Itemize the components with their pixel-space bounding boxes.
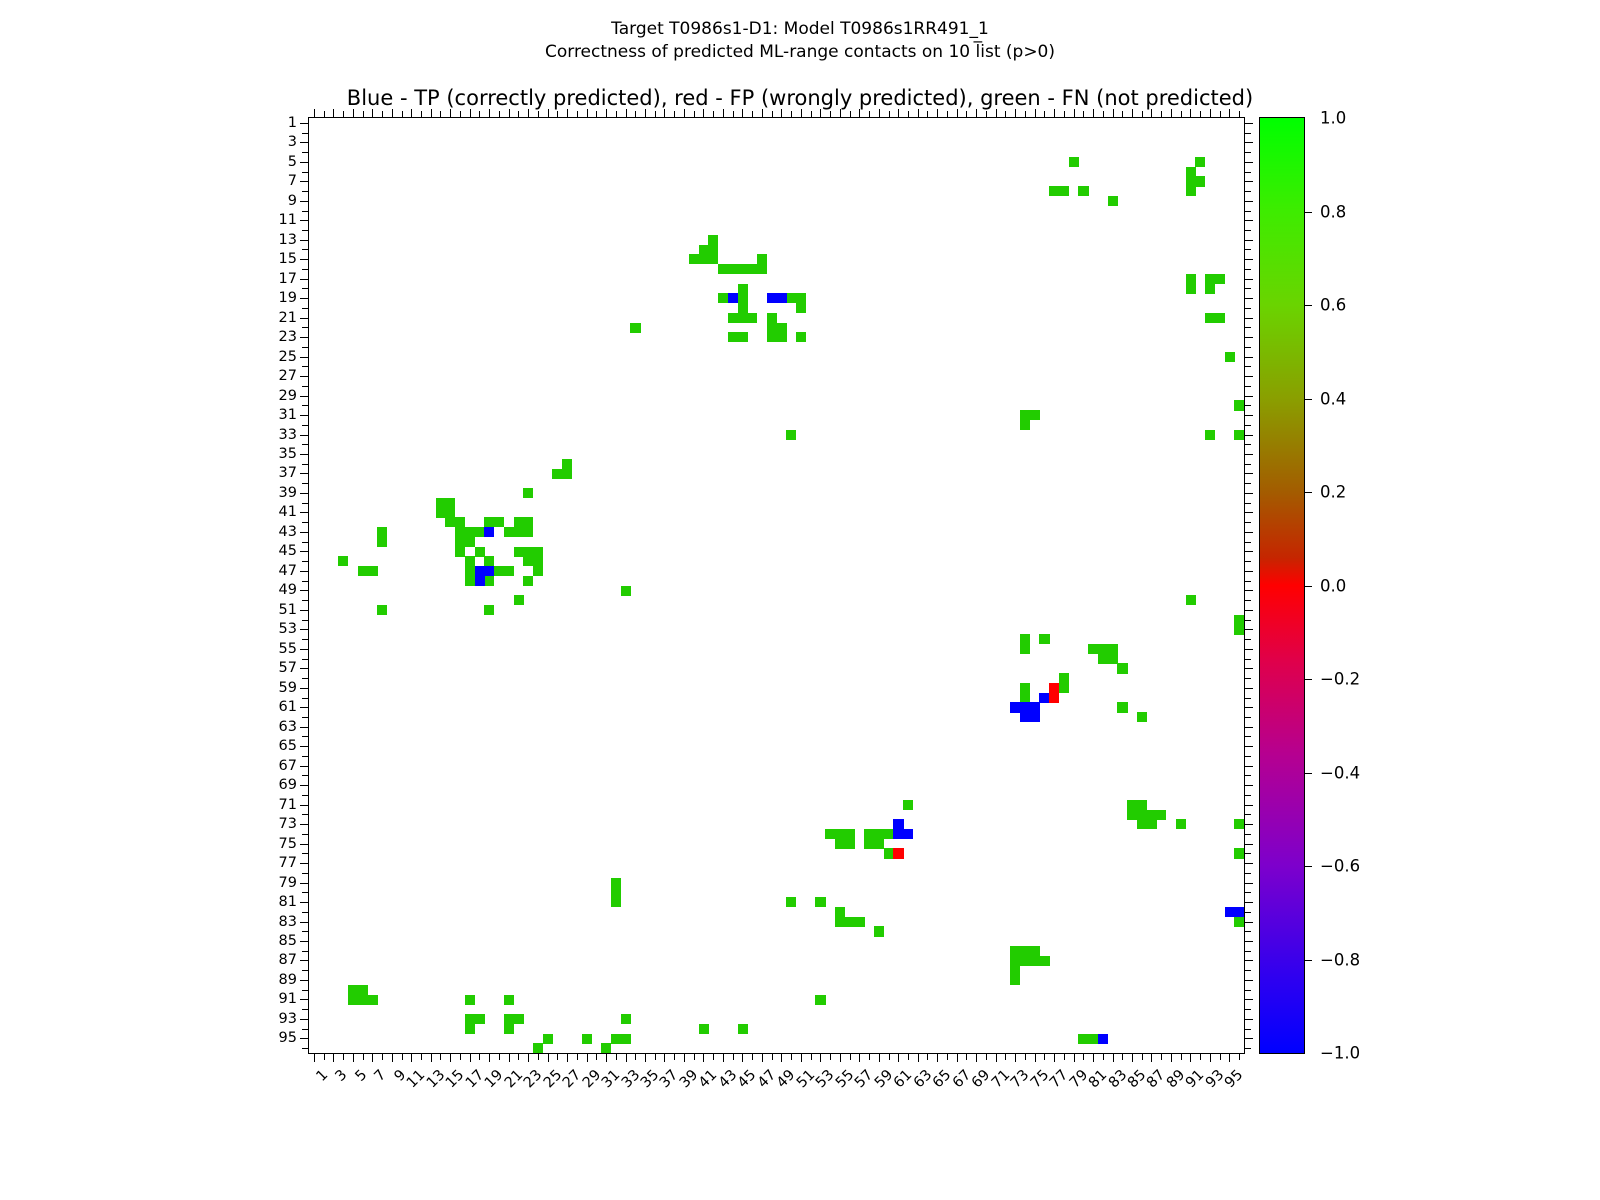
contact-cell-fn (1010, 946, 1020, 956)
contact-cell-fn (1059, 186, 1069, 196)
x-axis-tick-top (528, 109, 529, 118)
x-axis-tick-top (402, 111, 403, 118)
y-axis-tick (300, 551, 309, 552)
x-axis-tick-top (1044, 111, 1045, 118)
contact-cell-tp (1030, 712, 1040, 722)
contact-cell-fn (1205, 313, 1215, 323)
y-axis-tick (300, 785, 309, 786)
contact-cell-tp (1039, 693, 1049, 703)
contact-cell-fn (874, 829, 884, 839)
x-axis-tick-top (723, 109, 724, 118)
x-axis-tick-top (314, 109, 315, 118)
contact-cell-fp (893, 848, 903, 858)
contact-cell-fn (436, 508, 446, 518)
contact-cell-fn (1176, 819, 1186, 829)
contact-cell-fn (1020, 693, 1030, 703)
contact-cell-fn (738, 313, 748, 323)
x-axis-tick-top (557, 111, 558, 118)
contact-cell-fn (796, 303, 806, 313)
x-axis-tick-top (421, 111, 422, 118)
colorbar-tick-label: 0.6 (1320, 296, 1346, 315)
contact-cell-fn (796, 332, 806, 342)
x-axis-tick (1035, 1053, 1036, 1062)
contact-cell-fn (1234, 430, 1244, 440)
y-axis-tick-right (1244, 629, 1253, 630)
y-axis-tick-right (1244, 249, 1251, 250)
y-axis-tick-right (1244, 668, 1253, 669)
contact-cell-fn (611, 887, 621, 897)
x-axis-tick (626, 1053, 627, 1062)
y-axis-tick-right (1244, 279, 1253, 280)
y-axis-tick (302, 522, 309, 523)
y-axis-tick-label: 25 (279, 349, 297, 365)
y-axis-tick (300, 357, 309, 358)
y-axis-tick-right (1244, 473, 1253, 474)
contact-cell-fn (514, 527, 524, 537)
y-axis-tick-label: 87 (279, 952, 297, 968)
x-axis-tick (1229, 1053, 1230, 1062)
x-axis-tick-top (733, 111, 734, 118)
x-axis-tick (850, 1053, 851, 1060)
x-axis-tick (372, 1053, 373, 1062)
contact-cell-fn (455, 517, 465, 527)
y-axis-tick-right (1244, 133, 1251, 134)
x-axis-tick (489, 1053, 490, 1062)
x-axis-tick (733, 1053, 734, 1060)
contact-cell-tp (893, 819, 903, 829)
y-axis-tick-right (1244, 766, 1253, 767)
y-axis-tick (300, 922, 309, 923)
x-axis-tick-top (1171, 109, 1172, 118)
x-axis-tick-top (606, 109, 607, 118)
contact-cell-fn (1088, 644, 1098, 654)
contact-cell-fn (1108, 196, 1118, 206)
contact-cell-fn (1108, 644, 1118, 654)
contact-cell-fn (1030, 946, 1040, 956)
contact-cell-fn (358, 566, 368, 576)
colorbar-tick-label: −0.6 (1320, 857, 1360, 876)
y-axis-tick (300, 999, 309, 1000)
x-axis-tick-top (674, 111, 675, 118)
contact-cell-fn (475, 1014, 485, 1024)
contact-cell-fn (514, 547, 524, 557)
x-axis-tick-top (830, 111, 831, 118)
y-axis-tick-label: 31 (279, 407, 297, 423)
contact-cell-fn (1205, 430, 1215, 440)
y-axis-tick-label: 39 (279, 485, 297, 501)
x-axis-tick-top (1025, 111, 1026, 118)
y-axis-tick (302, 620, 309, 621)
y-axis-tick-label: 75 (279, 836, 297, 852)
colorbar-tick (1304, 960, 1312, 961)
y-axis-tick (300, 883, 309, 884)
contact-cell-fn (475, 527, 485, 537)
x-axis-tick (1044, 1053, 1045, 1060)
x-axis-tick-top (1190, 109, 1191, 118)
contact-cell-fn (582, 1034, 592, 1044)
y-axis-tick (302, 249, 309, 250)
colorbar-tick-label: 0.8 (1320, 202, 1346, 221)
y-axis-tick-right (1244, 892, 1251, 893)
y-axis-tick (300, 610, 309, 611)
contact-cell-fn (523, 517, 533, 527)
x-axis-tick (538, 1053, 539, 1060)
contact-cell-fn (1234, 615, 1244, 625)
x-axis-tick (548, 1053, 549, 1062)
contact-cell-fn (1059, 683, 1069, 693)
x-axis-tick-top (966, 111, 967, 118)
contact-cell-fn (815, 995, 825, 1005)
contact-cell-fn (786, 897, 796, 907)
x-axis-tick (684, 1053, 685, 1062)
page-title: Target T0986s1-D1: Model T0986s1RR491_1 (0, 18, 1600, 41)
contact-cell-fn (1137, 819, 1147, 829)
y-axis-tick (302, 1048, 309, 1049)
contact-cell-fn (562, 469, 572, 479)
contact-cell-fn (747, 264, 757, 274)
colorbar-tick (1304, 399, 1312, 400)
x-axis-tick-top (937, 109, 938, 118)
x-axis-tick (577, 1053, 578, 1060)
x-axis-tick-top (577, 111, 578, 118)
y-axis-tick (300, 688, 309, 689)
x-axis-tick-top (1151, 109, 1152, 118)
y-axis-tick (302, 659, 309, 660)
contact-cell-fn (533, 556, 543, 566)
x-axis-tick (431, 1053, 432, 1062)
y-axis-tick-right (1244, 357, 1253, 358)
contact-cell-fn (377, 605, 387, 615)
contact-cell-fn (1010, 965, 1020, 975)
y-axis-tick-right (1244, 347, 1251, 348)
x-axis-tick-top (411, 109, 412, 118)
x-axis-tick-top (440, 111, 441, 118)
y-axis-tick-label: 69 (279, 777, 297, 793)
contact-cell-fn (523, 576, 533, 586)
y-axis-tick-label: 7 (288, 173, 297, 189)
contact-cell-fn (1215, 313, 1225, 323)
x-axis-tick-top (1142, 111, 1143, 118)
y-axis-tick-right (1244, 1038, 1253, 1039)
y-axis-tick (302, 425, 309, 426)
contact-cell-fn (1020, 420, 1030, 430)
x-axis-tick-top (762, 109, 763, 118)
y-axis-tick-right (1244, 571, 1253, 572)
y-axis-tick-right (1244, 980, 1253, 981)
contact-cell-tp (1098, 1034, 1108, 1044)
contact-cell-fn (874, 926, 884, 936)
y-axis-tick (302, 386, 309, 387)
y-axis-tick (300, 707, 309, 708)
contact-cell-fn (1010, 975, 1020, 985)
y-axis-tick-right (1244, 620, 1251, 621)
y-axis-tick (300, 649, 309, 650)
x-axis-tick (830, 1053, 831, 1060)
y-axis-tick (302, 152, 309, 153)
contact-cell-fn (767, 323, 777, 333)
y-axis-tick-right (1244, 522, 1251, 523)
x-axis-tick (1083, 1053, 1084, 1060)
contact-cell-tp (1020, 712, 1030, 722)
y-axis-tick-right (1244, 551, 1253, 552)
contact-cell-fn (367, 995, 377, 1005)
y-axis-tick (300, 318, 309, 319)
contact-cell-fn (484, 605, 494, 615)
colorbar-tick-label: −0.2 (1320, 670, 1360, 689)
contact-cell-tp (728, 293, 738, 303)
y-axis-tick-label: 21 (279, 310, 297, 326)
x-axis-tick-label: 7 (372, 1067, 390, 1085)
y-axis-tick (302, 503, 309, 504)
contact-cell-tp (1030, 702, 1040, 712)
x-axis-tick (1054, 1053, 1055, 1062)
contact-cell-fn (1020, 956, 1030, 966)
x-axis-tick (518, 1053, 519, 1060)
y-axis-tick (302, 990, 309, 991)
y-axis-tick-right (1244, 152, 1251, 153)
x-axis-tick (742, 1053, 743, 1062)
y-axis-tick-label: 83 (279, 914, 297, 930)
y-axis-tick (300, 435, 309, 436)
y-axis-tick-label: 23 (279, 329, 297, 345)
x-axis-tick (499, 1053, 500, 1060)
y-axis-tick-right (1244, 396, 1253, 397)
y-axis-tick-right (1244, 707, 1253, 708)
y-axis-tick (302, 581, 309, 582)
contact-cell-fn (504, 1014, 514, 1024)
y-axis-tick-label: 55 (279, 641, 297, 657)
y-axis-tick-right (1244, 493, 1253, 494)
y-axis-tick-label: 49 (279, 582, 297, 598)
contact-cell-fn (1147, 819, 1157, 829)
contact-cell-fn (1108, 654, 1118, 664)
y-axis-tick (300, 337, 309, 338)
legend-title: Blue - TP (correctly predicted), red - F… (0, 86, 1600, 110)
y-axis-tick-label: 51 (279, 602, 297, 618)
colorbar-tick-label: −0.4 (1320, 763, 1360, 782)
y-axis-tick (302, 561, 309, 562)
x-axis-tick (1005, 1053, 1006, 1060)
x-axis-tick-top (1064, 111, 1065, 118)
y-axis-tick-label: 59 (279, 680, 297, 696)
y-axis-tick (300, 960, 309, 961)
y-axis-tick-right (1244, 990, 1251, 991)
colorbar-tick-label: 0.2 (1320, 483, 1346, 502)
contact-cell-fn (445, 508, 455, 518)
x-axis-tick-top (1210, 109, 1211, 118)
y-axis-tick (302, 464, 309, 465)
x-axis-tick (324, 1053, 325, 1060)
y-axis-tick (302, 834, 309, 835)
contact-cell-fn (1039, 956, 1049, 966)
x-axis-tick (674, 1053, 675, 1060)
contact-cell-fn (777, 323, 787, 333)
y-axis-tick (300, 493, 309, 494)
y-axis-tick-right (1244, 386, 1251, 387)
colorbar-tick (1304, 866, 1312, 867)
contact-cell-fn (523, 556, 533, 566)
contact-cell-fn (621, 586, 631, 596)
y-axis-tick (300, 1019, 309, 1020)
contact-cell-fn (708, 235, 718, 245)
contact-cell-fn (1234, 400, 1244, 410)
x-axis-tick (1122, 1053, 1123, 1060)
contact-cell-fn (835, 907, 845, 917)
x-axis-tick-top (333, 109, 334, 118)
contact-cell-fn (367, 566, 377, 576)
colorbar-tick-label: −1.0 (1320, 1044, 1360, 1063)
x-axis-tick (791, 1053, 792, 1060)
contact-cell-fn (377, 527, 387, 537)
contact-cell-fn (445, 498, 455, 508)
contact-cell-fn (1020, 644, 1030, 654)
contact-cell-fn (1049, 186, 1059, 196)
colorbar-tick (1304, 305, 1312, 306)
contact-cell-fn (358, 985, 368, 995)
x-axis-tick-top (957, 109, 958, 118)
contact-cell-fn (767, 332, 777, 342)
y-axis-tick-right (1244, 688, 1253, 689)
x-axis-tick (1074, 1053, 1075, 1062)
contact-cell-fn (338, 556, 348, 566)
y-axis-tick-right (1244, 366, 1251, 367)
contact-cell-tp (1020, 702, 1030, 712)
x-axis-tick-top (372, 109, 373, 118)
y-axis-tick (302, 639, 309, 640)
x-axis-tick-top (889, 111, 890, 118)
contact-cell-fn (786, 293, 796, 303)
x-axis-tick (976, 1053, 977, 1062)
x-axis-tick-top (1132, 109, 1133, 118)
contact-cell-fn (845, 829, 855, 839)
x-axis-tick (1181, 1053, 1182, 1060)
x-axis-tick (567, 1053, 568, 1062)
y-axis-tick-right (1244, 590, 1253, 591)
x-axis-tick (655, 1053, 656, 1060)
contact-cell-fn (835, 839, 845, 849)
y-axis-tick (300, 746, 309, 747)
y-axis-tick (302, 230, 309, 231)
y-axis-tick-right (1244, 415, 1253, 416)
y-axis-tick (302, 756, 309, 757)
contact-cell-fn (562, 459, 572, 469)
contact-cell-fp (1049, 693, 1059, 703)
contact-cell-fn (786, 430, 796, 440)
x-axis-tick (392, 1053, 393, 1062)
y-axis-tick-label: 85 (279, 933, 297, 949)
contact-cell-fn (1234, 819, 1244, 829)
x-axis-tick (966, 1053, 967, 1060)
x-axis-tick-top (460, 111, 461, 118)
x-axis-tick (557, 1053, 558, 1060)
y-axis-tick (300, 668, 309, 669)
x-axis-tick-top (976, 109, 977, 118)
y-axis-tick-right (1244, 999, 1253, 1000)
x-axis-tick-top (363, 111, 364, 118)
x-axis-tick-top (781, 109, 782, 118)
x-axis-tick (509, 1053, 510, 1062)
x-axis-tick-top (752, 111, 753, 118)
y-axis-tick-right (1244, 844, 1253, 845)
contact-cell-fn (767, 313, 777, 323)
x-axis-tick-top (898, 109, 899, 118)
colorbar: 1.00.80.60.40.20.0−0.2−0.4−0.6−0.8−1.0 (1259, 117, 1305, 1054)
x-axis-tick-top (811, 111, 812, 118)
y-axis-tick (300, 259, 309, 260)
x-axis-tick (898, 1053, 899, 1062)
y-axis-tick-right (1244, 834, 1251, 835)
contact-cell-fn (1030, 410, 1040, 420)
colorbar-tick (1304, 586, 1312, 587)
x-axis-tick (596, 1053, 597, 1060)
x-axis-tick-label: 3 (333, 1067, 351, 1085)
x-axis-tick-top (548, 109, 549, 118)
y-axis-tick (300, 532, 309, 533)
y-axis-tick-right (1244, 405, 1251, 406)
x-axis-tick (1220, 1053, 1221, 1060)
y-axis-tick-right (1244, 922, 1253, 923)
y-axis-tick-right (1244, 464, 1251, 465)
contact-cell-fn (738, 264, 748, 274)
x-axis-tick-top (850, 111, 851, 118)
x-axis-tick (859, 1053, 860, 1062)
contact-cell-fn (445, 517, 455, 527)
y-axis-tick-right (1244, 483, 1251, 484)
contact-cell-fn (465, 1024, 475, 1034)
y-axis-tick-label: 3 (288, 134, 297, 150)
y-axis-tick (300, 240, 309, 241)
y-axis-tick-right (1244, 191, 1251, 192)
y-axis-tick (300, 142, 309, 143)
y-axis-tick-label: 73 (279, 816, 297, 832)
y-axis-tick-right (1244, 435, 1253, 436)
y-axis-tick-right (1244, 717, 1251, 718)
colorbar-tick (1304, 492, 1312, 493)
contact-cell-fn (738, 284, 748, 294)
x-axis-tick-top (918, 109, 919, 118)
colorbar-tick (1304, 679, 1312, 680)
x-axis-tick-top (703, 109, 704, 118)
y-axis-tick (300, 376, 309, 377)
x-axis-tick (889, 1053, 890, 1060)
contact-cell-fn (465, 995, 475, 1005)
contact-cell-tp (1234, 907, 1244, 917)
x-axis-tick (1190, 1053, 1191, 1062)
contact-cell-fn (436, 498, 446, 508)
contact-cell-fn (1039, 634, 1049, 644)
y-axis-tick-right (1244, 698, 1251, 699)
contact-cell-fn (1205, 284, 1215, 294)
x-axis-tick-top (713, 111, 714, 118)
y-axis-tick-right (1244, 736, 1251, 737)
y-axis-tick (302, 951, 309, 952)
y-axis-tick-right (1244, 805, 1253, 806)
x-axis-tick (908, 1053, 909, 1060)
y-axis-tick (300, 396, 309, 397)
x-axis-tick-top (947, 111, 948, 118)
y-axis-tick-right (1244, 512, 1253, 513)
y-axis-tick-right (1244, 240, 1253, 241)
x-axis-tick (996, 1053, 997, 1062)
contact-cell-fn (601, 1043, 611, 1053)
contact-cell-fn (738, 303, 748, 313)
y-axis-tick-label: 37 (279, 465, 297, 481)
contact-cell-fn (455, 537, 465, 547)
contact-cell-fn (1186, 186, 1196, 196)
contact-cell-tp (475, 566, 485, 576)
y-axis-tick (300, 201, 309, 202)
contact-cell-fn (611, 897, 621, 907)
